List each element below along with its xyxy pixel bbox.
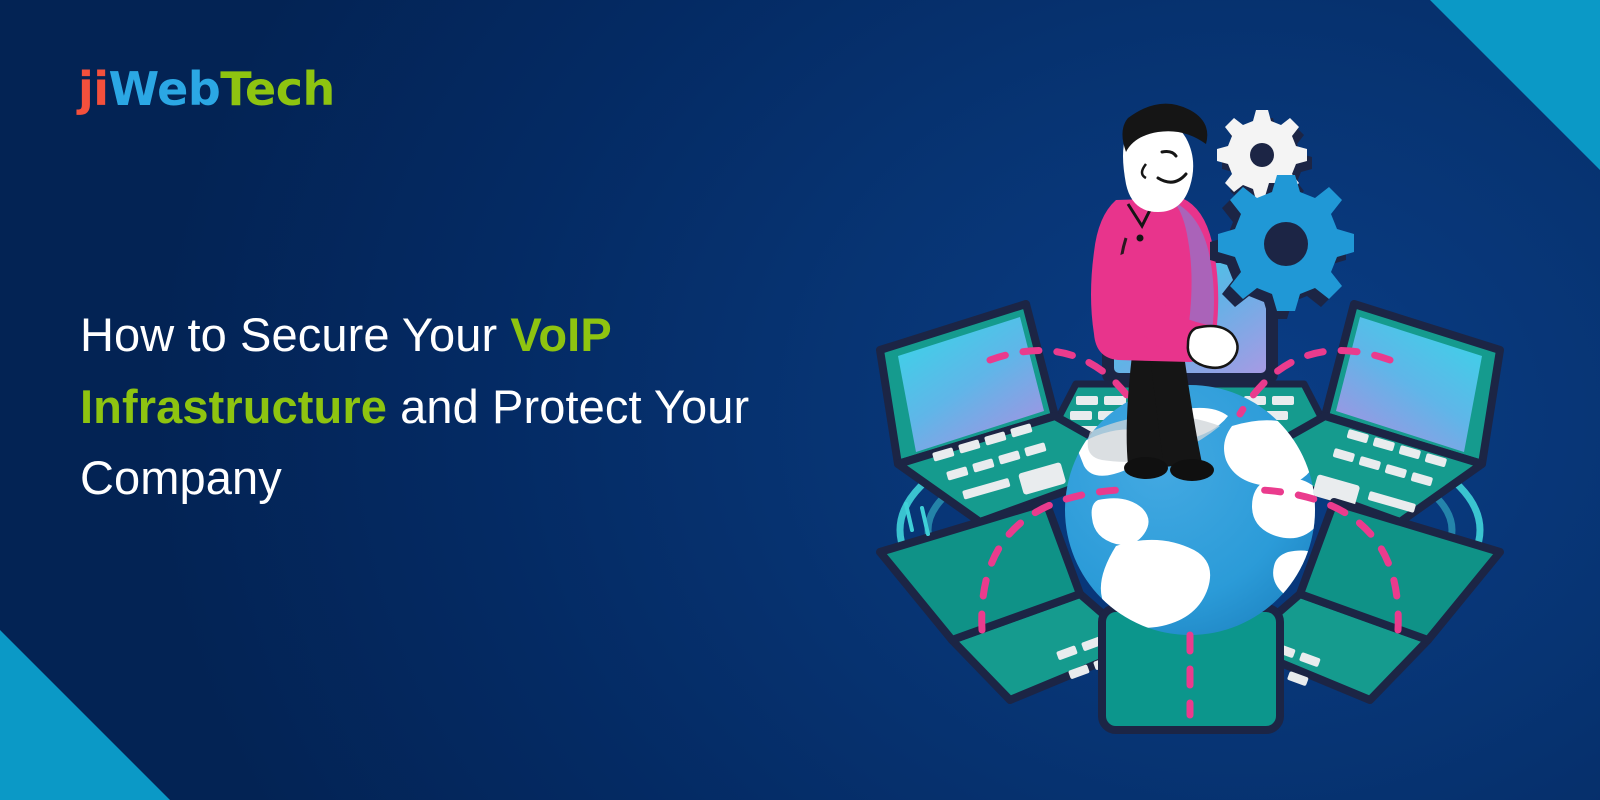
page-title: How to Secure Your VoIP Infrastructure a… (80, 299, 780, 513)
character-hand (1188, 326, 1238, 368)
logo-part-tech: Tech (220, 62, 334, 116)
corner-accent-bottom-left (0, 630, 170, 800)
gear-blue-icon (1210, 175, 1354, 319)
brand-logo[interactable]: jiWebTech (78, 66, 335, 112)
headline-segment-plain-1: How to Secure Your (80, 308, 510, 361)
character-shoe-left (1124, 457, 1168, 479)
logo-part-web: Web (109, 62, 221, 116)
character-shoe-right (1170, 459, 1214, 481)
logo-part-ji: ji (78, 62, 109, 116)
voip-hero-banner: jiWebTech How to Secure Your VoIP Infras… (0, 0, 1600, 800)
voip-network-illustration (840, 60, 1540, 740)
